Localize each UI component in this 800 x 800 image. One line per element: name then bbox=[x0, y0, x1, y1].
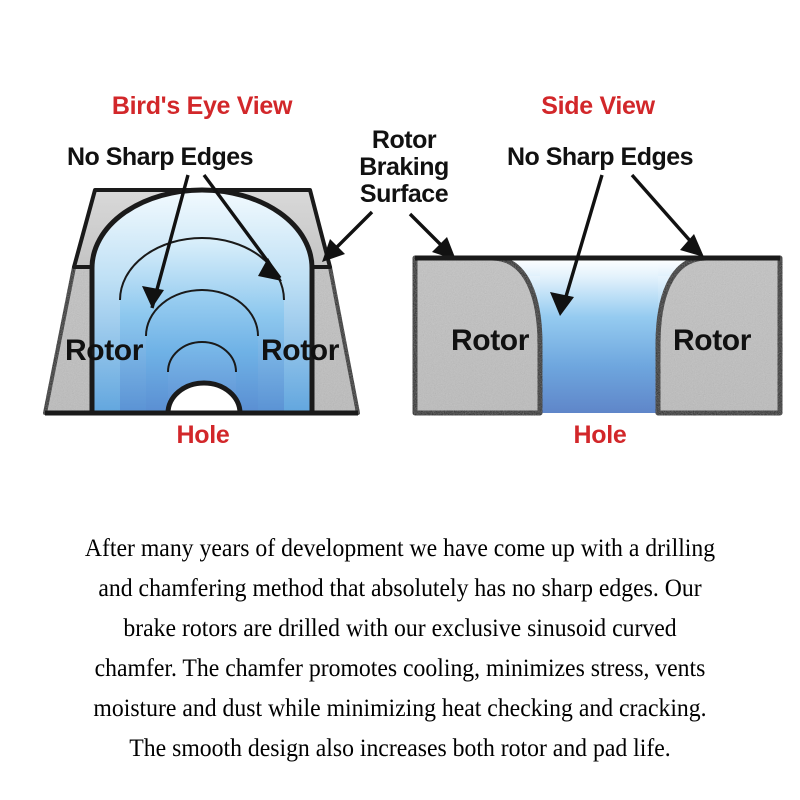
description-line-6: The smooth design also increases both ro… bbox=[28, 728, 772, 768]
rotor-braking-surface-arrow-left bbox=[322, 212, 372, 262]
description-line-4: chamfer. The chamfer promotes cooling, m… bbox=[28, 648, 772, 688]
side-view-no-sharp-edges-label: No Sharp Edges bbox=[507, 143, 693, 171]
side-view-no-sharp-edges-arrow-right bbox=[632, 175, 704, 257]
birds-eye-rotor-label-left: Rotor bbox=[65, 334, 144, 367]
rotor-braking-surface-line-3: Surface bbox=[360, 180, 449, 208]
description-line-1: After many years of development we have … bbox=[28, 528, 772, 568]
birds-eye-chamfer-bowl bbox=[92, 190, 312, 413]
side-view-rotor-label-right: Rotor bbox=[673, 324, 752, 357]
rotor-braking-surface-arrow-right bbox=[410, 214, 456, 260]
side-view-rotor-label-left: Rotor bbox=[451, 324, 530, 357]
description-line-5: moisture and dust while minimizing heat … bbox=[28, 688, 772, 728]
description-line-2: and chamfering method that absolutely ha… bbox=[28, 568, 772, 608]
rotor-braking-surface-callout: Rotor Braking Surface bbox=[322, 126, 456, 262]
description-line-3: brake rotors are drilled with our exclus… bbox=[28, 608, 772, 648]
side-view-hole-label: Hole bbox=[574, 421, 627, 449]
birds-eye-no-sharp-edges-label: No Sharp Edges bbox=[67, 143, 253, 171]
birds-eye-view-title: Bird's Eye View bbox=[112, 92, 293, 120]
diagram-stage: Bird's Eye View bbox=[0, 0, 800, 800]
side-view-group: Side View Rotor Rotor No Sharp Edges bbox=[415, 92, 780, 449]
description-paragraph: After many years of development we have … bbox=[28, 528, 772, 768]
birds-eye-view-group: Bird's Eye View bbox=[45, 92, 358, 449]
side-view-slot-fill bbox=[540, 258, 658, 413]
birds-eye-rotor-label-right: Rotor bbox=[261, 334, 340, 367]
side-view-title: Side View bbox=[541, 92, 655, 120]
rotor-braking-surface-line-2: Braking bbox=[359, 153, 449, 181]
rotor-braking-surface-line-1: Rotor bbox=[372, 126, 437, 154]
birds-eye-hole-label: Hole bbox=[177, 421, 230, 449]
